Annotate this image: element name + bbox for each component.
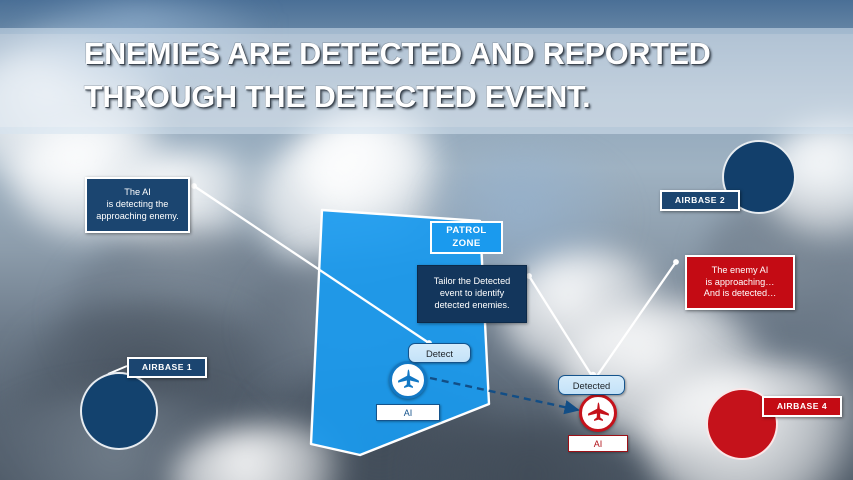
callout-enemy-ai-line-2: is approaching…: [706, 277, 775, 289]
airbase-1-label-text: AIRBASE 1: [142, 362, 192, 373]
red-enemy-unit[interactable]: [579, 394, 617, 432]
airbase-4-label-text: AIRBASE 4: [777, 401, 827, 412]
airbase-1-label[interactable]: AIRBASE 1: [127, 357, 207, 378]
connector-enemy-ai: [597, 262, 676, 376]
callout-enemy-ai: The enemy AI is approaching… And is dete…: [685, 255, 795, 310]
event-chip-detected[interactable]: Detected: [558, 375, 625, 395]
red-ai-name-plate[interactable]: AI: [568, 435, 628, 452]
jet-icon: [585, 400, 612, 427]
callout-tailor-line-2: event to identify: [440, 288, 504, 300]
callout-tailor-event: Tailor the Detected event to identify de…: [417, 265, 527, 323]
event-chip-detect-label: Detect: [426, 348, 453, 359]
callout-tailor-line-1: Tailor the Detected: [434, 276, 511, 288]
callout-tailor-line-3: detected enemies.: [434, 300, 509, 312]
jet-icon: [395, 367, 422, 394]
blue-ai-name-text: AI: [404, 408, 413, 418]
blue-ai-unit[interactable]: [389, 361, 427, 399]
patrol-zone-label[interactable]: PATROL ZONE: [430, 221, 503, 254]
slide-canvas: ENEMIES ARE DETECTED AND REPORTED THROUG…: [0, 0, 853, 480]
page-title: ENEMIES ARE DETECTED AND REPORTED THROUG…: [84, 28, 784, 124]
patrol-zone-line-1: PATROL: [446, 225, 486, 237]
connector-tailor-event: [529, 276, 592, 376]
red-ai-name-text: AI: [594, 439, 603, 449]
blue-ai-name-plate[interactable]: AI: [376, 404, 440, 421]
callout-enemy-ai-line-1: The enemy AI: [712, 265, 769, 277]
callout-enemy-ai-line-3: And is detected…: [704, 288, 777, 300]
callout-ai-detecting-line-3: approaching enemy.: [96, 211, 179, 223]
airbase-2-label-text: AIRBASE 2: [675, 195, 725, 206]
airbase-4-label[interactable]: AIRBASE 4: [762, 396, 842, 417]
callout-ai-detecting-line-2: is detecting the: [107, 199, 169, 211]
title-line-2: THROUGH THE DETECTED EVENT.: [84, 76, 784, 119]
airbase-1-circle[interactable]: [80, 372, 158, 450]
title-line-1: ENEMIES ARE DETECTED AND REPORTED: [84, 33, 784, 76]
event-chip-detected-label: Detected: [573, 380, 611, 391]
airbase-2-label[interactable]: AIRBASE 2: [660, 190, 740, 211]
callout-ai-detecting-line-1: The AI: [124, 187, 151, 199]
event-chip-detect[interactable]: Detect: [408, 343, 471, 363]
callout-ai-detecting: The AI is detecting the approaching enem…: [85, 177, 190, 233]
patrol-zone-line-2: ZONE: [452, 238, 480, 250]
